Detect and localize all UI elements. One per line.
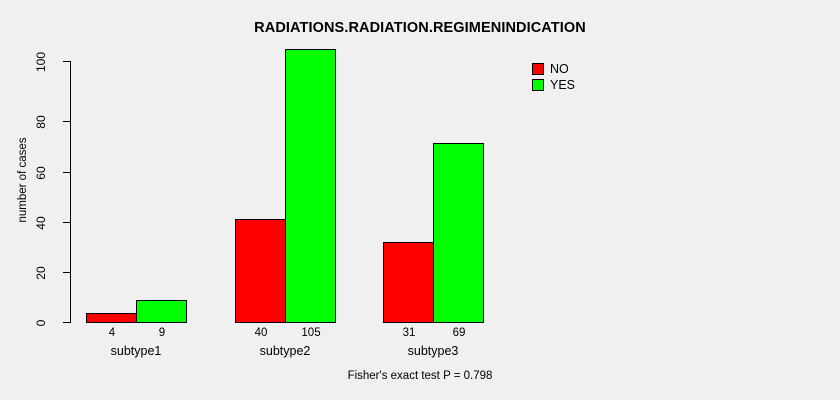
y-tick-100: [63, 61, 70, 62]
y-tick-0: [63, 322, 70, 323]
legend-label-yes: YES: [550, 79, 575, 92]
y-tick-label-60: 60: [34, 153, 48, 193]
bar-value-subtype2-yes: 105: [285, 327, 337, 339]
plot-area: number of cases 0 20 40 60 80 100 4 9 su…: [0, 0, 840, 400]
y-tick-label-100: 100: [34, 42, 48, 82]
bar-value-subtype3-yes: 69: [433, 327, 485, 339]
chart-canvas: RADIATIONS.RADIATION.REGIMENINDICATION n…: [0, 0, 840, 400]
y-tick-label-0: 0: [34, 303, 48, 343]
y-tick-80: [63, 121, 70, 122]
y-tick-20: [63, 272, 70, 273]
legend-item-yes[interactable]: YES: [532, 77, 575, 93]
y-tick-40: [63, 222, 70, 223]
bar-subtype3-no[interactable]: [383, 242, 434, 323]
y-tick-60: [63, 172, 70, 173]
legend-swatch-yes-icon: [532, 79, 544, 91]
y-tick-label-80: 80: [34, 102, 48, 142]
bar-subtype1-yes[interactable]: [136, 300, 187, 323]
y-axis-title: number of cases: [17, 120, 29, 240]
statistical-test-note: Fisher's exact test P = 0.798: [0, 370, 840, 382]
legend-swatch-no-icon: [532, 63, 544, 75]
group-label-subtype1: subtype1: [66, 344, 206, 358]
y-tick-label-40: 40: [34, 203, 48, 243]
bar-subtype3-yes[interactable]: [433, 143, 484, 323]
bar-value-subtype2-no: 40: [235, 327, 287, 339]
legend-item-no[interactable]: NO: [532, 61, 575, 77]
bar-value-subtype3-no: 31: [383, 327, 435, 339]
legend-label-no: NO: [550, 63, 569, 76]
bar-subtype2-no[interactable]: [235, 219, 286, 323]
y-axis-line: [70, 61, 71, 323]
legend: NO YES: [532, 61, 575, 93]
group-label-subtype2: subtype2: [215, 344, 355, 358]
bar-subtype2-yes[interactable]: [285, 49, 336, 323]
bar-value-subtype1-yes: 9: [136, 327, 188, 339]
bar-value-subtype1-no: 4: [86, 327, 138, 339]
bar-subtype1-no[interactable]: [86, 313, 137, 323]
group-label-subtype3: subtype3: [363, 344, 503, 358]
y-tick-label-20: 20: [34, 253, 48, 293]
